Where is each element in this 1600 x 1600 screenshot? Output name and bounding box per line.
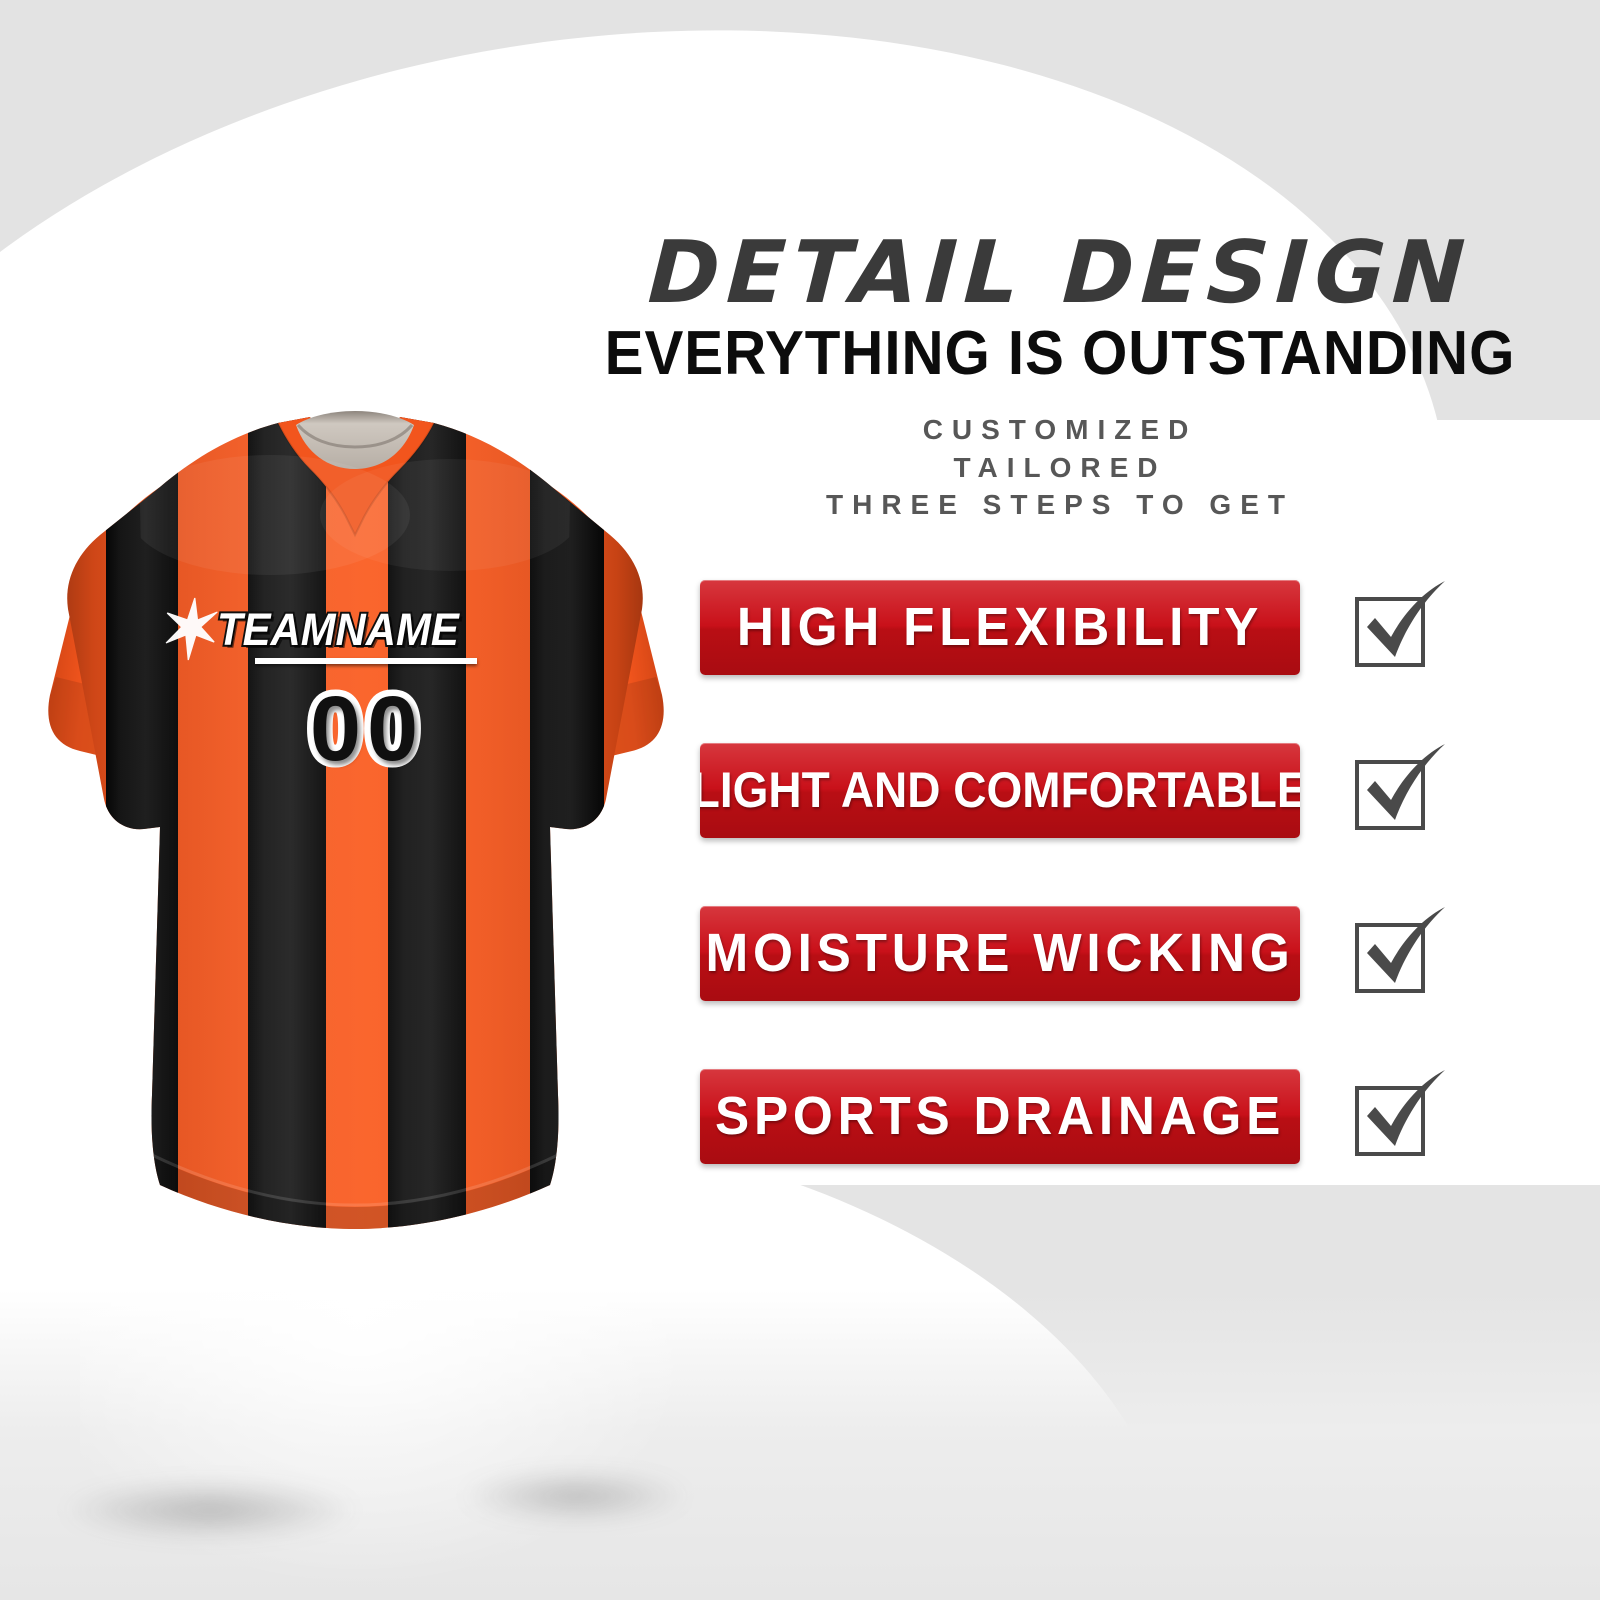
feature-bar-light-and-comfortable[interactable]: LIGHT AND COMFORTABLE xyxy=(700,743,1300,838)
feature-row: LIGHT AND COMFORTABLE xyxy=(700,743,1490,838)
feature-check-cell xyxy=(1300,897,1490,1009)
feature-check-cell xyxy=(1300,1060,1490,1172)
product-shadow-right xyxy=(460,1470,690,1522)
checkbox-checked-icon[interactable] xyxy=(1339,1060,1451,1172)
product-shadow-left xyxy=(60,1480,360,1540)
feature-bar-moisture-wicking[interactable]: MOISTURE WICKING xyxy=(700,906,1300,1001)
feature-row: SPORTS DRAINAGE xyxy=(700,1069,1490,1164)
feature-bar-sports-drainage[interactable]: SPORTS DRAINAGE xyxy=(700,1069,1300,1164)
product-detail-banner: TEAMNAME 00 DETAIL DESIGN EVERYTHING IS … xyxy=(0,0,1600,1600)
feature-label: HIGH FLEXIBILITY xyxy=(737,600,1263,654)
checkbox-checked-icon[interactable] xyxy=(1339,734,1451,846)
feature-label: LIGHT AND COMFORTABLE xyxy=(700,765,1300,815)
feature-label: SPORTS DRAINAGE xyxy=(715,1089,1285,1143)
page-title: DETAIL DESIGN xyxy=(558,230,1563,316)
tagline-1: CUSTOMIZED xyxy=(560,411,1560,449)
feature-list: HIGH FLEXIBILITY LIGHT AND COMFORTABLE xyxy=(700,580,1490,1164)
page-subtitle: EVERYTHING IS OUTSTANDING xyxy=(590,322,1530,385)
checkbox-checked-icon[interactable] xyxy=(1339,571,1451,683)
feature-row: HIGH FLEXIBILITY xyxy=(700,580,1490,675)
tagline-group: CUSTOMIZED TAILORED THREE STEPS TO GET xyxy=(560,411,1560,524)
tagline-2: TAILORED xyxy=(560,449,1560,487)
checkbox-checked-icon[interactable] xyxy=(1339,897,1451,1009)
content-column: DETAIL DESIGN EVERYTHING IS OUTSTANDING … xyxy=(560,230,1560,1232)
tagline-3: THREE STEPS TO GET xyxy=(560,486,1560,524)
feature-label: MOISTURE WICKING xyxy=(706,926,1295,980)
feature-check-cell xyxy=(1300,734,1490,846)
feature-check-cell xyxy=(1300,571,1490,683)
feature-row: MOISTURE WICKING xyxy=(700,906,1490,1001)
feature-bar-high-flexibility[interactable]: HIGH FLEXIBILITY xyxy=(700,580,1300,675)
